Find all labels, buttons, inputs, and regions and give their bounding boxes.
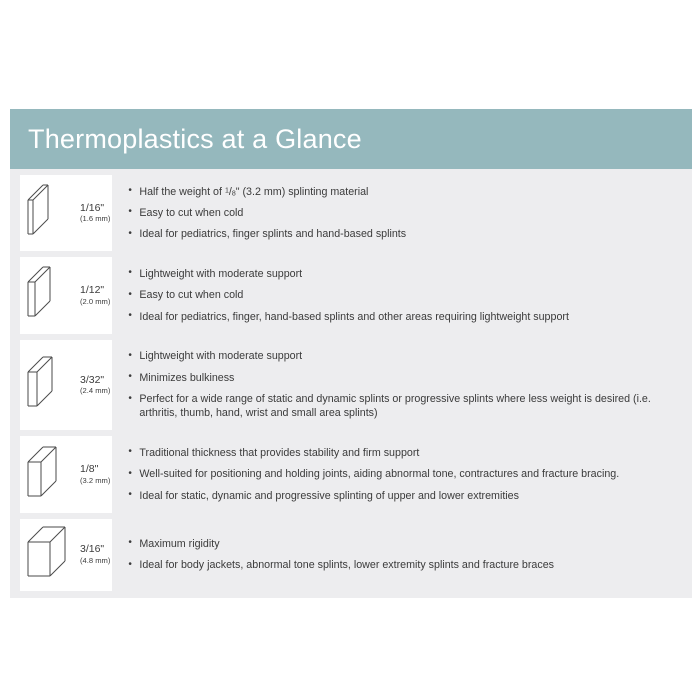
- thickness-metric: (2.0 mm): [80, 298, 110, 306]
- list-item: Ideal for static, dynamic and progressiv…: [127, 489, 684, 503]
- thickness-labels: 1/8"(3.2 mm): [80, 464, 110, 485]
- list-item: Minimizes bulkiness: [127, 371, 684, 385]
- table-row: 3/32"(2.4 mm)Lightweight with moderate s…: [10, 340, 692, 431]
- list-item: Easy to cut when cold: [127, 206, 684, 220]
- thermoplastic-slab-1-8: [22, 446, 76, 504]
- bullet-text-pre: Half the weight of: [139, 186, 225, 198]
- bullet-list: Lightweight with moderate supportEasy to…: [117, 257, 684, 333]
- icon-inner: 1/16"(1.6 mm): [22, 184, 110, 242]
- bullet-list: Lightweight with moderate supportMinimiz…: [117, 340, 684, 431]
- infographic-page: Thermoplastics at a Glance 1/16"(1.6 mm)…: [0, 0, 700, 700]
- thickness-icon-panel: 1/8"(3.2 mm): [20, 436, 112, 512]
- icon-inner: 3/16"(4.8 mm): [22, 526, 110, 584]
- thickness-metric: (3.2 mm): [80, 477, 110, 485]
- list-item: Ideal for pediatrics, finger splints and…: [127, 227, 684, 241]
- list-item: Traditional thickness that provides stab…: [127, 446, 684, 460]
- thermoplastic-slab-1-16: [22, 184, 76, 242]
- rows-container: 1/16"(1.6 mm)Half the weight of 1/8" (3.…: [10, 169, 692, 598]
- table-row: 1/16"(1.6 mm)Half the weight of 1/8" (3.…: [10, 175, 692, 251]
- thickness-imperial: 1/8": [80, 464, 98, 475]
- list-item: Well-suited for positioning and holding …: [127, 467, 684, 481]
- thickness-imperial: 3/16": [80, 544, 104, 555]
- thickness-metric: (1.6 mm): [80, 215, 110, 223]
- thickness-imperial: 3/32": [80, 375, 104, 386]
- icon-inner: 1/8"(3.2 mm): [22, 446, 110, 504]
- thickness-imperial: 1/12": [80, 285, 104, 296]
- card-header-banner: Thermoplastics at a Glance: [10, 109, 692, 169]
- fraction-glyph: 1/8: [225, 186, 236, 198]
- thickness-labels: 3/32"(2.4 mm): [80, 375, 110, 396]
- list-item: Half the weight of 1/8" (3.2 mm) splinti…: [127, 185, 684, 199]
- list-item: Easy to cut when cold: [127, 288, 684, 302]
- table-row: 1/12"(2.0 mm)Lightweight with moderate s…: [10, 257, 692, 333]
- bullet-list: Half the weight of 1/8" (3.2 mm) splinti…: [117, 175, 684, 251]
- thermoplastic-slab-1-12: [22, 266, 76, 324]
- thickness-icon-panel: 3/32"(2.4 mm): [20, 340, 112, 431]
- page-title: Thermoplastics at a Glance: [28, 126, 362, 153]
- list-item: Lightweight with moderate support: [127, 349, 684, 363]
- thickness-labels: 3/16"(4.8 mm): [80, 544, 110, 565]
- list-item: Ideal for body jackets, abnormal tone sp…: [127, 558, 684, 572]
- thickness-imperial: 1/16": [80, 203, 104, 214]
- bullet-list: Traditional thickness that provides stab…: [117, 436, 684, 512]
- thickness-metric: (4.8 mm): [80, 557, 110, 565]
- table-row: 3/16"(4.8 mm)Maximum rigidityIdeal for b…: [10, 519, 692, 591]
- list-item: Ideal for pediatrics, finger, hand-based…: [127, 310, 684, 324]
- thickness-labels: 1/16"(1.6 mm): [80, 203, 110, 224]
- thickness-metric: (2.4 mm): [80, 387, 110, 395]
- thickness-icon-panel: 1/12"(2.0 mm): [20, 257, 112, 333]
- list-item: Lightweight with moderate support: [127, 267, 684, 281]
- thickness-icon-panel: 3/16"(4.8 mm): [20, 519, 112, 591]
- thermoplastic-slab-3-32: [22, 356, 76, 414]
- list-item: Maximum rigidity: [127, 537, 684, 551]
- thickness-icon-panel: 1/16"(1.6 mm): [20, 175, 112, 251]
- thermoplastics-card: Thermoplastics at a Glance 1/16"(1.6 mm)…: [10, 109, 692, 598]
- bullet-text-post: " (3.2 mm) splinting material: [236, 186, 369, 198]
- table-row: 1/8"(3.2 mm)Traditional thickness that p…: [10, 436, 692, 512]
- list-item: Perfect for a wide range of static and d…: [127, 392, 684, 421]
- icon-inner: 1/12"(2.0 mm): [22, 266, 110, 324]
- icon-inner: 3/32"(2.4 mm): [22, 356, 110, 414]
- thermoplastic-slab-3-16: [22, 526, 76, 584]
- bullet-list: Maximum rigidityIdeal for body jackets, …: [117, 519, 684, 591]
- thickness-labels: 1/12"(2.0 mm): [80, 285, 110, 306]
